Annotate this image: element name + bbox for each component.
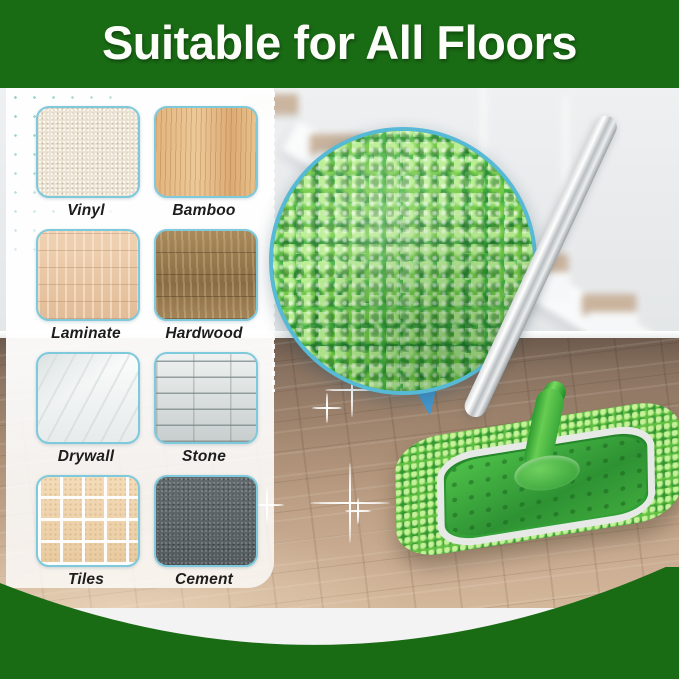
page-title: Suitable for All Floors <box>0 12 679 74</box>
swatch-label: Stone <box>154 448 254 466</box>
swatch-thumbnail-bamboo <box>154 106 258 198</box>
swatch-thumbnail-cement <box>154 475 258 567</box>
footer-curve-shape <box>0 567 679 679</box>
swatch-label: Bamboo <box>154 202 254 220</box>
swatch-item[interactable]: Laminate <box>36 229 136 343</box>
swatch-thumbnail-laminate <box>36 229 140 321</box>
swatch-thumbnail-drywall <box>36 352 140 444</box>
swatch-item[interactable]: Bamboo <box>154 106 254 220</box>
swatch-label: Laminate <box>36 325 136 343</box>
swatch-label: Drywall <box>36 448 136 466</box>
swatch-label: Vinyl <box>36 202 136 220</box>
swatch-item[interactable]: Vinyl <box>36 106 136 220</box>
swatch-thumbnail-hardwood <box>154 229 258 321</box>
swatch-item[interactable]: Hardwood <box>154 229 254 343</box>
flat-mop-product <box>380 280 679 580</box>
swatch-thumbnail-tiles <box>36 475 140 567</box>
swatch-item[interactable]: Stone <box>154 352 254 466</box>
swatch-thumbnail-vinyl <box>36 106 140 198</box>
header-banner: Suitable for All Floors <box>0 0 679 88</box>
swatch-thumbnail-stone <box>154 352 258 444</box>
swatch-label: Hardwood <box>154 325 254 343</box>
floor-swatch-grid: Vinyl Bamboo Laminate Hardwood Drywall S <box>36 106 254 589</box>
footer-banner <box>0 567 679 679</box>
swatch-item[interactable]: Drywall <box>36 352 136 466</box>
floor-types-panel: Vinyl Bamboo Laminate Hardwood Drywall S <box>6 88 274 588</box>
infographic-canvas: Vinyl Bamboo Laminate Hardwood Drywall S <box>0 0 679 679</box>
